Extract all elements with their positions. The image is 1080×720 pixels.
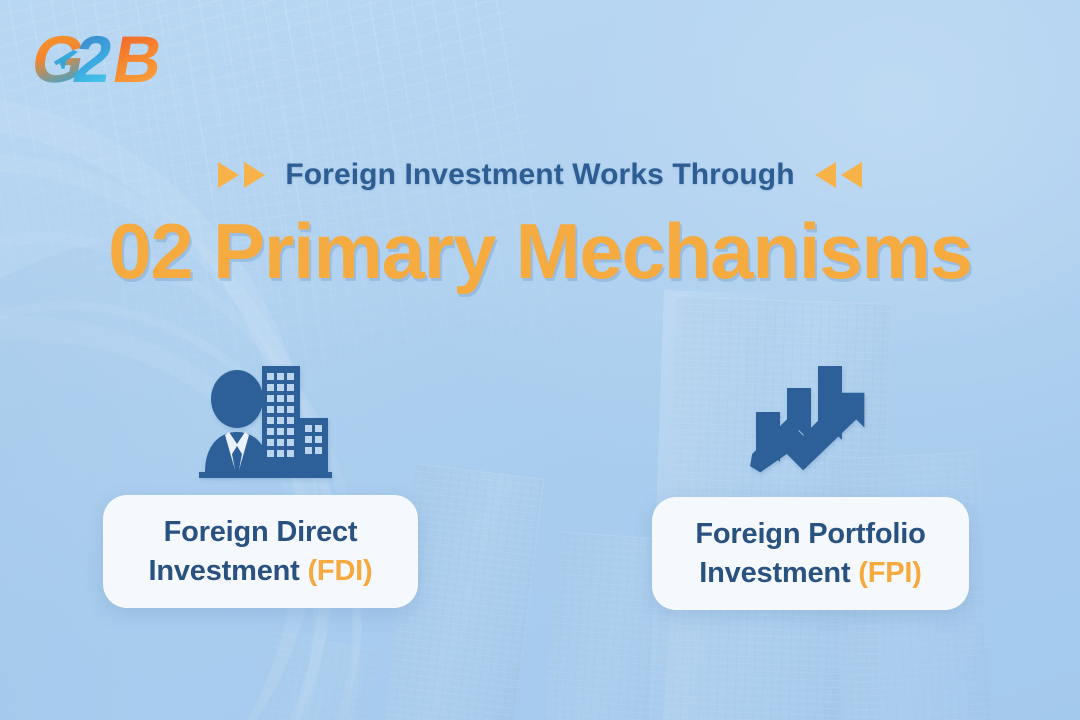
fdi-title-line1: Foreign Direct <box>164 516 358 548</box>
mechanism-card-title: Foreign Portfolio Investment (FPI) <box>695 515 925 592</box>
page-title: 02 Primary Mechanisms <box>0 206 1080 297</box>
mechanism-card-fdi[interactable]: Foreign Direct Investment (FDI) <box>103 495 418 608</box>
g2b-logo[interactable]: G 2 B <box>26 20 186 98</box>
eyebrow-row: Foreign Investment Works Through <box>0 158 1080 192</box>
mechanism-card-title: Foreign Direct Investment (FDI) <box>149 513 373 590</box>
fpi-title-line1: Foreign Portfolio <box>695 518 925 550</box>
infographic-canvas: G 2 B Foreign Investment Works Through 0… <box>0 0 1080 720</box>
background-photo <box>0 0 1080 720</box>
blue-color-overlay <box>0 0 1080 720</box>
businessman-building-icon <box>193 362 338 482</box>
bar-chart-growth-arrow-icon <box>742 362 892 482</box>
double-triangle-right-icon <box>218 162 265 188</box>
fdi-title-line2: Investment <box>149 555 308 587</box>
fdi-abbreviation: (FDI) <box>307 555 372 587</box>
mechanism-card-fpi[interactable]: Foreign Portfolio Investment (FPI) <box>652 497 969 610</box>
eyebrow-text: Foreign Investment Works Through <box>285 158 794 192</box>
fpi-abbreviation: (FPI) <box>858 557 921 589</box>
double-triangle-left-icon <box>815 162 862 188</box>
logo-letter-b: B <box>107 23 168 96</box>
fpi-title-line2: Investment <box>699 557 858 589</box>
